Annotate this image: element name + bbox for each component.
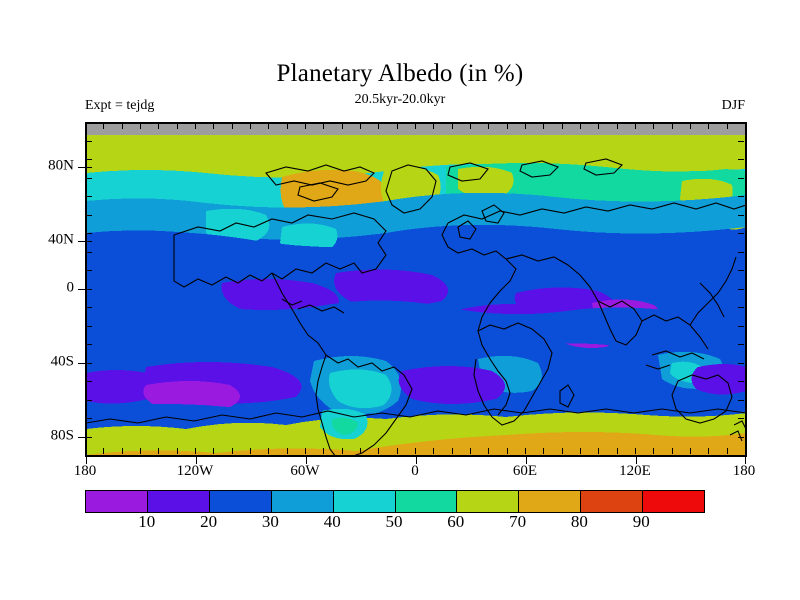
- colorbar-label-70: 70: [509, 512, 526, 532]
- axis-minor-ticks: [85, 122, 746, 456]
- x-label-0: 0: [411, 463, 419, 480]
- colorbar-band-40-50: [333, 491, 395, 512]
- y-label-80s: 80S: [51, 428, 74, 445]
- colorbar-label-10: 10: [138, 512, 155, 532]
- y-tick-0: [78, 289, 85, 290]
- colorbar-band-10-20: [147, 491, 209, 512]
- y-tick-40n: [78, 241, 85, 242]
- colorbar-band-70-80: [518, 491, 580, 512]
- colorbar-band-20-30: [209, 491, 271, 512]
- x-label-120w: 120W: [177, 463, 214, 480]
- colorbar-band-0-10: [86, 491, 147, 512]
- y-label-80n: 80N: [48, 158, 74, 175]
- colorbar-label-30: 30: [262, 512, 279, 532]
- colorbar-label-80: 80: [571, 512, 588, 532]
- experiment-label: Expt = tejdg: [85, 98, 154, 114]
- colorbar-band-80-90: [580, 491, 642, 512]
- colorbar-label-90: 90: [633, 512, 650, 532]
- colorbar-label-60: 60: [447, 512, 464, 532]
- colorbar-band-60-70: [456, 491, 518, 512]
- y-tick-80s: [78, 437, 85, 438]
- colorbar-band-50-60: [395, 491, 457, 512]
- x-label-180w: 180: [74, 463, 97, 480]
- colorbar-labels: 102030405060708090: [85, 512, 703, 536]
- albedo-map-figure: Planetary Albedo (in %) 20.5kyr-20.0kyr …: [0, 0, 800, 600]
- y-label-40s: 40S: [51, 354, 74, 371]
- y-tick-80n: [78, 167, 85, 168]
- colorbar-label-20: 20: [200, 512, 217, 532]
- season-label: DJF: [722, 98, 745, 114]
- x-label-180e: 180: [733, 463, 756, 480]
- x-label-60w: 60W: [290, 463, 319, 480]
- colorbar-label-50: 50: [386, 512, 403, 532]
- colorbar: [85, 490, 705, 513]
- x-label-60e: 60E: [513, 463, 537, 480]
- page-title: Planetary Albedo (in %): [0, 60, 800, 88]
- y-label-0: 0: [67, 280, 75, 297]
- colorbar-band-30-40: [271, 491, 333, 512]
- y-label-40n: 40N: [48, 232, 74, 249]
- colorbar-label-40: 40: [324, 512, 341, 532]
- x-label-120e: 120E: [619, 463, 651, 480]
- colorbar-band-90-100: [642, 491, 704, 512]
- y-tick-40s: [78, 363, 85, 364]
